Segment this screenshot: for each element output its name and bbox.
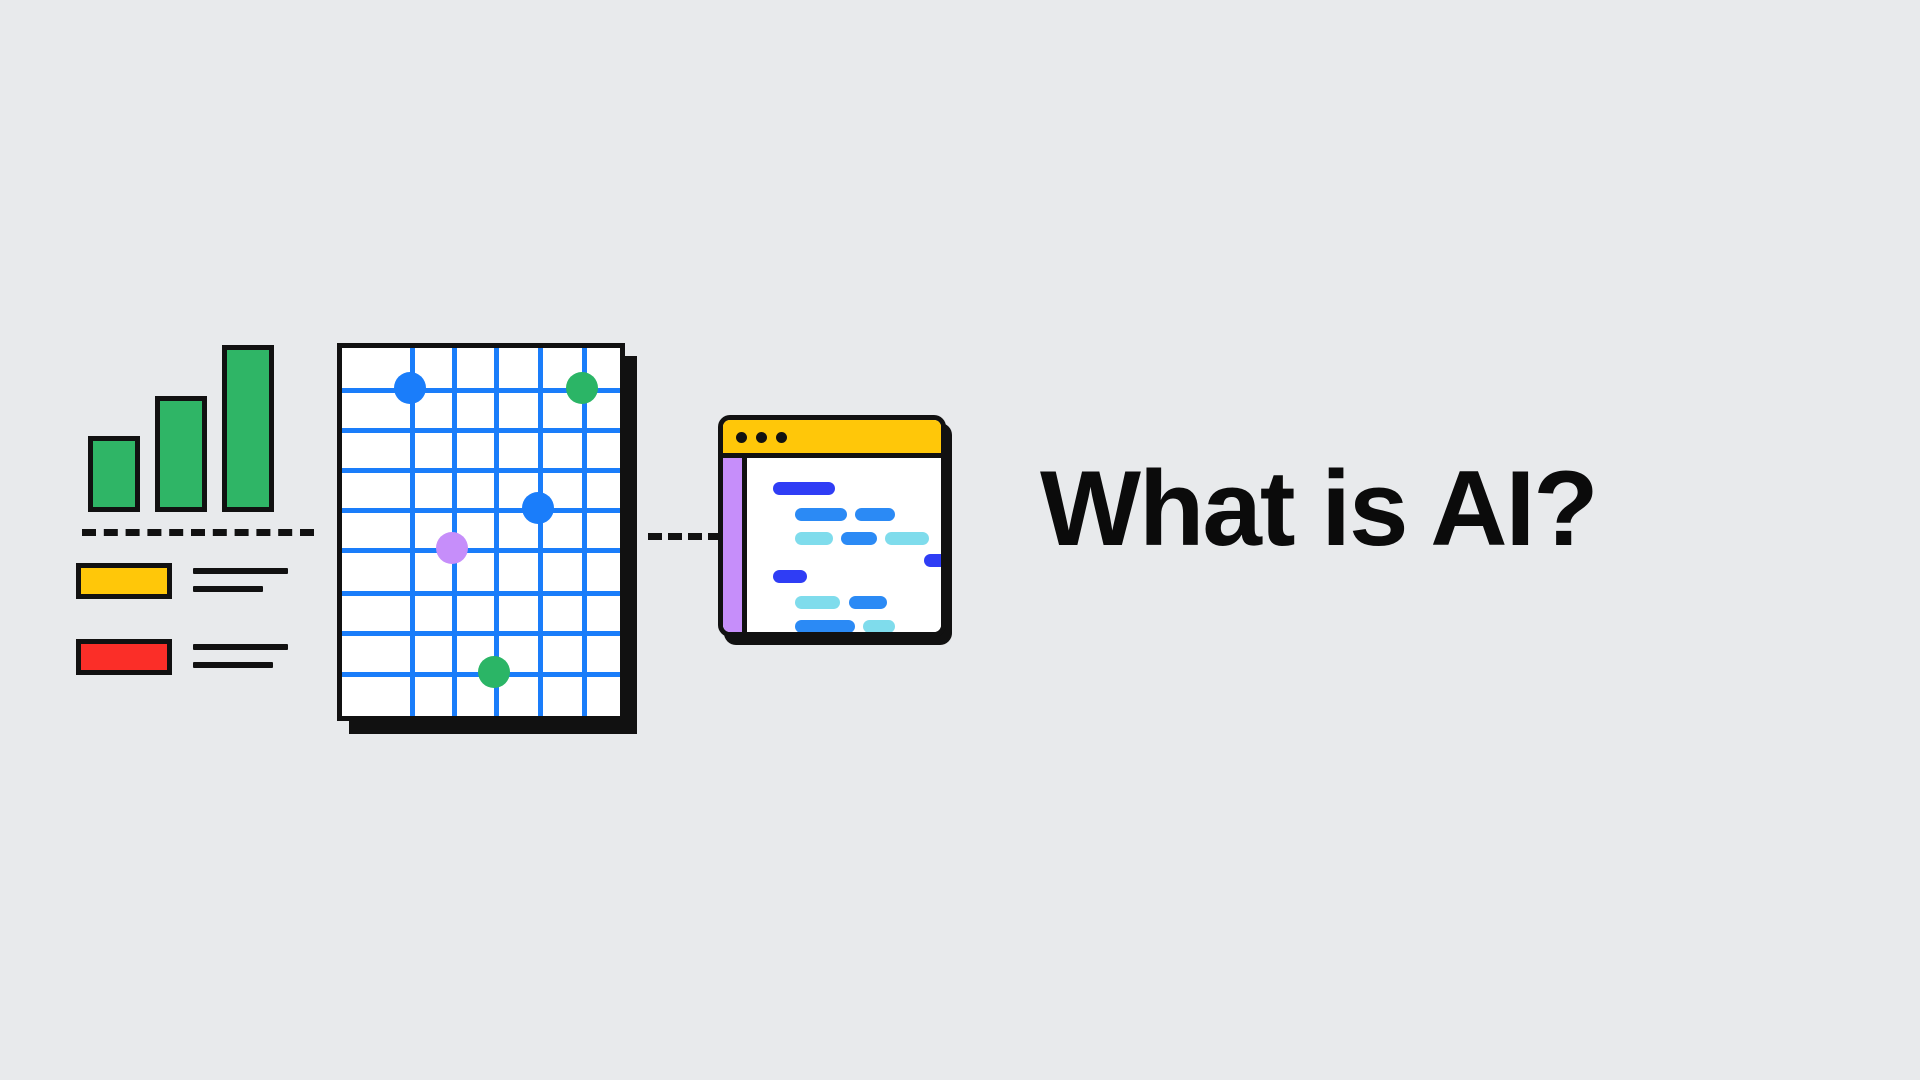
window-maximize-dot-icon[interactable] bbox=[776, 432, 787, 443]
code-window-sidebar bbox=[723, 458, 747, 632]
grid-paper-scatter-plot bbox=[337, 343, 625, 721]
grid-line-vertical-6 bbox=[624, 348, 625, 716]
illustration-canvas: What is AI? bbox=[0, 0, 1920, 1080]
code-token-7 bbox=[924, 554, 946, 567]
legend-swatch-red bbox=[76, 639, 172, 675]
scatter-dot-blue-2 bbox=[522, 492, 554, 524]
code-token-9 bbox=[795, 596, 840, 609]
code-token-8 bbox=[773, 570, 807, 583]
grid-line-horizontal-2 bbox=[342, 428, 620, 433]
legend-text-line-1b bbox=[193, 586, 263, 592]
scatter-dot-blue-1 bbox=[394, 372, 426, 404]
scatter-dot-purple-1 bbox=[436, 532, 468, 564]
bar-chart-bar-2 bbox=[155, 396, 207, 512]
code-window-titlebar bbox=[723, 420, 941, 458]
scatter-dot-green-2 bbox=[478, 656, 510, 688]
code-token-6 bbox=[885, 532, 929, 545]
grid-line-horizontal-3 bbox=[342, 468, 620, 473]
code-editor-window bbox=[718, 415, 946, 637]
code-token-12 bbox=[863, 620, 895, 633]
code-token-10 bbox=[849, 596, 887, 609]
window-close-dot-icon[interactable] bbox=[736, 432, 747, 443]
grid-line-horizontal-6 bbox=[342, 591, 620, 596]
code-token-2 bbox=[795, 508, 847, 521]
connector-grid-to-code bbox=[648, 533, 722, 540]
window-minimize-dot-icon[interactable] bbox=[756, 432, 767, 443]
bar-chart-bar-3 bbox=[222, 345, 274, 512]
code-token-5 bbox=[841, 532, 877, 545]
code-token-11 bbox=[795, 620, 855, 633]
legend-text-line-2a bbox=[193, 644, 288, 650]
code-token-4 bbox=[795, 532, 833, 545]
code-token-3 bbox=[855, 508, 895, 521]
legend-text-line-2b bbox=[193, 662, 273, 668]
grid-line-horizontal-4 bbox=[342, 508, 620, 513]
bar-chart-bar-1 bbox=[88, 436, 140, 512]
grid-line-vertical-4 bbox=[538, 348, 543, 716]
legend-swatch-yellow bbox=[76, 563, 172, 599]
bar-chart-baseline-dashed bbox=[82, 529, 314, 536]
grid-line-horizontal-7 bbox=[342, 631, 620, 636]
scatter-dot-green-1 bbox=[566, 372, 598, 404]
page-title: What is AI? bbox=[1040, 455, 1740, 562]
legend-text-line-1a bbox=[193, 568, 288, 574]
grid-line-horizontal-5 bbox=[342, 548, 620, 553]
code-token-1 bbox=[773, 482, 835, 495]
code-window-body bbox=[747, 458, 941, 632]
